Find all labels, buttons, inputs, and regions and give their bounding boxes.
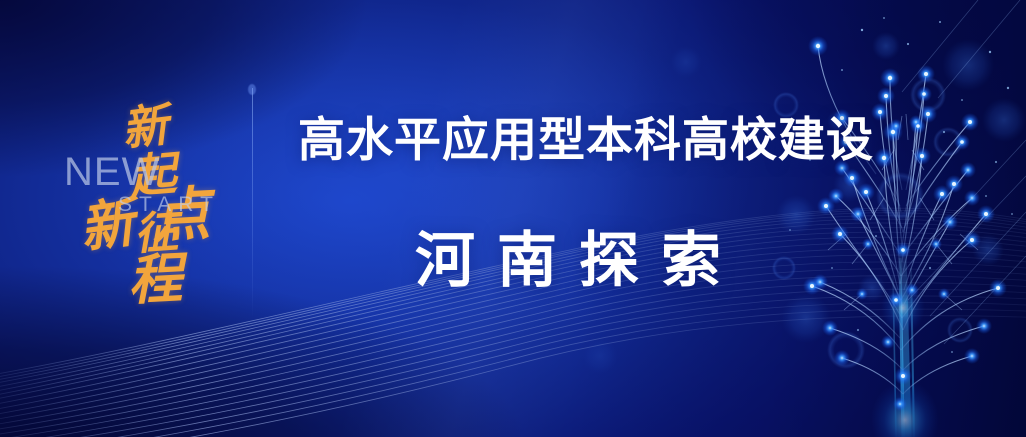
digital-particle-tree [0, 0, 1026, 437]
page-subtitle: 河南探索 [415, 231, 743, 291]
page-title: 高水平应用型本科高校建设 [298, 117, 874, 164]
banner-root: 新 起 点 新 征 程 NEW START 高水平应用型本科高校建设 河南探索 [0, 0, 1026, 437]
antenna-stem [252, 88, 253, 318]
antenna-stem-dot [248, 84, 256, 95]
